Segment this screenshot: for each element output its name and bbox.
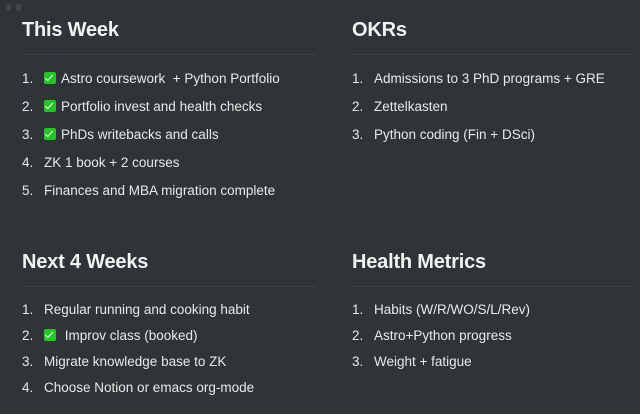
list-item[interactable]: Python coding (Fin + DSci) [352, 121, 626, 149]
list-item-body: PhDs writebacks and calls [44, 127, 219, 143]
list-item-label: Astro coursework + Python Portfolio [61, 71, 280, 87]
list-item-label: Choose Notion or emacs org-mode [44, 380, 254, 396]
list-item-label: Portfolio invest and health checks [61, 99, 262, 115]
list-item[interactable]: Improv class (booked) [22, 323, 306, 349]
list-item-label: ZK 1 book + 2 courses [44, 155, 179, 171]
list-item-label: Habits (W/R/WO/S/L/Rev) [374, 302, 530, 318]
list-item[interactable]: Finances and MBA migration complete [22, 177, 306, 205]
list-item-label: Finances and MBA migration complete [44, 183, 275, 199]
list-item-label: Weight + fatigue [374, 354, 472, 370]
list-this-week: Astro coursework + Python PortfolioPortf… [22, 65, 306, 205]
list-item[interactable]: Habits (W/R/WO/S/L/Rev) [352, 297, 626, 323]
list-item-label: Zettelkasten [374, 99, 448, 115]
panel-this-week: This Week Astro coursework + Python Port… [0, 0, 320, 230]
list-item-body: Python coding (Fin + DSci) [374, 127, 535, 143]
list-item[interactable]: Choose Notion or emacs org-mode [22, 375, 306, 401]
notes-page: This Week Astro coursework + Python Port… [0, 0, 640, 414]
list-item-body: Weight + fatigue [374, 354, 472, 370]
list-item[interactable]: Weight + fatigue [352, 349, 626, 375]
list-item-body: Astro+Python progress [374, 328, 512, 344]
list-item-body: Habits (W/R/WO/S/L/Rev) [374, 302, 530, 318]
list-item[interactable]: Portfolio invest and health checks [22, 93, 306, 121]
list-health-metrics: Habits (W/R/WO/S/L/Rev)Astro+Python prog… [352, 297, 626, 375]
panel-next-4-weeks: Next 4 Weeks Regular running and cooking… [0, 230, 320, 414]
panel-divider [22, 286, 316, 287]
list-item-label: PhDs writebacks and calls [61, 127, 219, 143]
list-item[interactable]: Astro coursework + Python Portfolio [22, 65, 306, 93]
list-item-label: Python coding (Fin + DSci) [374, 127, 535, 143]
list-item[interactable]: Migrate knowledge base to ZK [22, 349, 306, 375]
list-item-label: Regular running and cooking habit [44, 302, 250, 318]
list-item-body: Portfolio invest and health checks [44, 99, 262, 115]
list-item[interactable]: Admissions to 3 PhD programs + GRE [352, 65, 626, 93]
list-item-body: Migrate knowledge base to ZK [44, 354, 226, 370]
list-okrs: Admissions to 3 PhD programs + GREZettel… [352, 65, 626, 149]
checkmark-icon[interactable] [44, 329, 56, 341]
list-item-body: Zettelkasten [374, 99, 448, 115]
list-item-body: Regular running and cooking habit [44, 302, 250, 318]
list-item[interactable]: Regular running and cooking habit [22, 297, 306, 323]
list-item[interactable]: Zettelkasten [352, 93, 626, 121]
list-item[interactable]: PhDs writebacks and calls [22, 121, 306, 149]
panel-title-okrs: OKRs [352, 18, 626, 42]
list-item-body: Improv class (booked) [44, 328, 198, 344]
list-next-4-weeks: Regular running and cooking habit Improv… [22, 297, 306, 401]
list-item-body: Admissions to 3 PhD programs + GRE [374, 71, 605, 87]
list-item-body: Astro coursework + Python Portfolio [44, 71, 280, 87]
panel-title-health-metrics: Health Metrics [352, 250, 626, 274]
panel-okrs: OKRs Admissions to 3 PhD programs + GREZ… [320, 0, 640, 230]
list-item-label: Improv class (booked) [61, 328, 198, 344]
panel-grid: This Week Astro coursework + Python Port… [0, 0, 640, 414]
list-item-body: Finances and MBA migration complete [44, 183, 275, 199]
checkmark-icon[interactable] [44, 100, 56, 112]
list-item-label: Migrate knowledge base to ZK [44, 354, 226, 370]
list-item-body: ZK 1 book + 2 courses [44, 155, 179, 171]
checkmark-icon[interactable] [44, 128, 56, 140]
panel-title-next-4-weeks: Next 4 Weeks [22, 250, 306, 274]
list-item-label: Astro+Python progress [374, 328, 512, 344]
list-item[interactable]: ZK 1 book + 2 courses [22, 149, 306, 177]
panel-health-metrics: Health Metrics Habits (W/R/WO/S/L/Rev)As… [320, 230, 640, 414]
list-item-body: Choose Notion or emacs org-mode [44, 380, 254, 396]
panel-divider [352, 286, 630, 287]
panel-title-this-week: This Week [22, 18, 306, 42]
checkmark-icon[interactable] [44, 72, 56, 84]
list-item[interactable]: Astro+Python progress [352, 323, 626, 349]
panel-divider [22, 54, 316, 55]
list-item-label: Admissions to 3 PhD programs + GRE [374, 71, 605, 87]
panel-divider [352, 54, 630, 55]
